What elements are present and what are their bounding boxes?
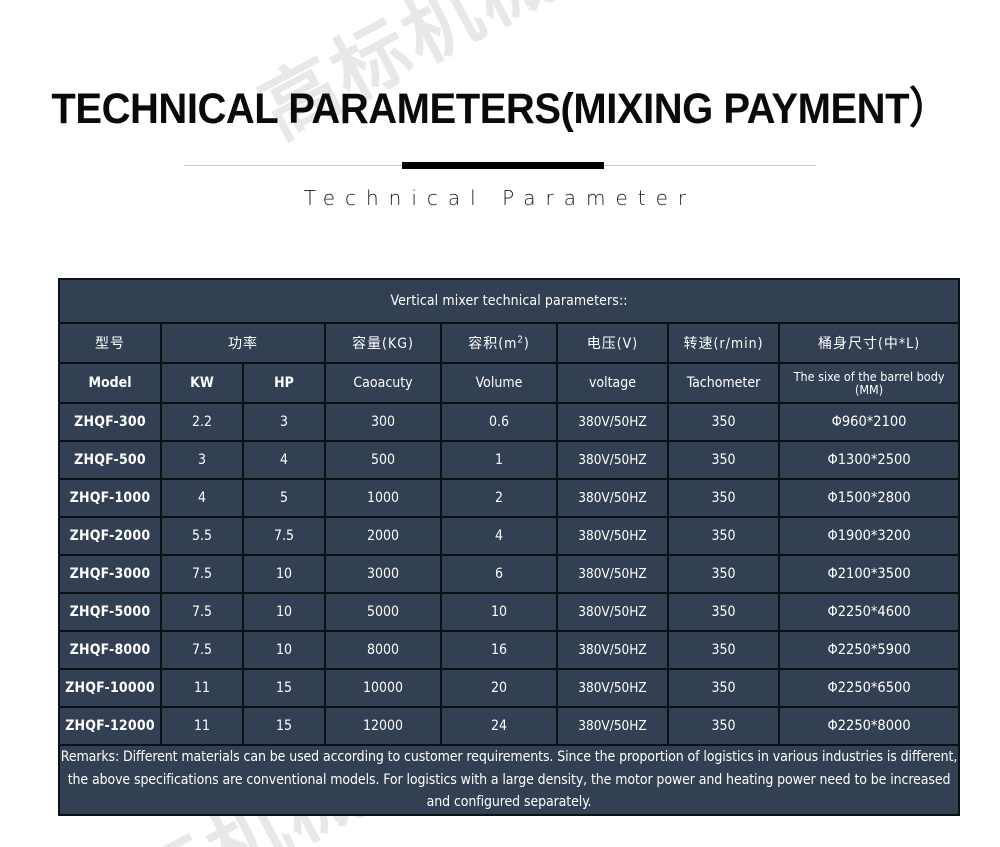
cell-volume: 16 <box>442 632 556 668</box>
cell-tachometer: 350 <box>669 404 778 440</box>
cell-kw: 4 <box>162 480 242 516</box>
col-header-power-cn: 功率 <box>162 324 324 362</box>
cell-volume: 20 <box>442 670 556 706</box>
cell-tachometer: 350 <box>669 708 778 744</box>
col-header-barrel-cn: 桶身尺寸(中*L) <box>780 324 958 362</box>
divider-accent-bar <box>402 162 604 169</box>
col-header-voltage-en: voltage <box>558 364 667 402</box>
cell-capacity: 300 <box>326 404 440 440</box>
table-banner: Vertical mixer technical parameters:: <box>60 280 958 322</box>
table-remarks: Remarks: Different materials can be used… <box>60 746 958 814</box>
cell-model: ZHQF-12000 <box>60 708 160 744</box>
cell-barrel: Φ2250*4600 <box>780 594 958 630</box>
page-subtitle: Technical Parameter <box>0 186 1000 210</box>
cell-hp: 3 <box>244 404 324 440</box>
table-header-row-cn: 型号 功率 容量(KG) 容积(m2) 电压(V) 转速(r/min) 桶身尺寸… <box>60 324 958 362</box>
cell-volume: 1 <box>442 442 556 478</box>
cell-model: ZHQF-1000 <box>60 480 160 516</box>
cell-hp: 4 <box>244 442 324 478</box>
cell-barrel: Φ2250*6500 <box>780 670 958 706</box>
cell-kw: 11 <box>162 708 242 744</box>
cell-barrel: Φ1500*2800 <box>780 480 958 516</box>
cell-model: ZHQF-10000 <box>60 670 160 706</box>
col-header-capacity-cn: 容量(KG) <box>326 324 440 362</box>
cell-voltage: 380V/50HZ <box>558 556 667 592</box>
cell-kw: 2.2 <box>162 404 242 440</box>
cell-hp: 10 <box>244 632 324 668</box>
cell-model: ZHQF-3000 <box>60 556 160 592</box>
col-header-volume-en: Volume <box>442 364 556 402</box>
cell-kw: 3 <box>162 442 242 478</box>
barrel-label-line2: (MM) <box>855 382 883 397</box>
table-row: ZHQF-1000 4 5 1000 2 380V/50HZ 350 Φ1500… <box>60 480 958 516</box>
cell-capacity: 2000 <box>326 518 440 554</box>
cell-voltage: 380V/50HZ <box>558 632 667 668</box>
cell-capacity: 500 <box>326 442 440 478</box>
col-header-barrel-en: The sixe of the barrel body(MM) <box>780 364 958 402</box>
table-row: ZHQF-500 3 4 500 1 380V/50HZ 350 Φ1300*2… <box>60 442 958 478</box>
cell-voltage: 380V/50HZ <box>558 708 667 744</box>
cell-capacity: 3000 <box>326 556 440 592</box>
cell-tachometer: 350 <box>669 594 778 630</box>
table-row: ZHQF-300 2.2 3 300 0.6 380V/50HZ 350 Φ96… <box>60 404 958 440</box>
table-row: ZHQF-10000 11 15 10000 20 380V/50HZ 350 … <box>60 670 958 706</box>
cell-volume: 6 <box>442 556 556 592</box>
volume-label-tail: ) <box>524 336 530 352</box>
table-header-row-en: Model KW HP Caoacuty Volume voltage Tach… <box>60 364 958 402</box>
col-header-hp-en: HP <box>244 364 324 402</box>
cell-voltage: 380V/50HZ <box>558 404 667 440</box>
table-banner-row: Vertical mixer technical parameters:: <box>60 280 958 322</box>
col-header-tachometer-en: Tachometer <box>669 364 778 402</box>
cell-hp: 10 <box>244 594 324 630</box>
cell-hp: 15 <box>244 708 324 744</box>
cell-model: ZHQF-300 <box>60 404 160 440</box>
table-row: ZHQF-2000 5.5 7.5 2000 4 380V/50HZ 350 Φ… <box>60 518 958 554</box>
page-title: TECHNICAL PARAMETERS(MIXING PAYMENT） <box>35 88 965 131</box>
cell-model: ZHQF-8000 <box>60 632 160 668</box>
cell-capacity: 12000 <box>326 708 440 744</box>
cell-kw: 7.5 <box>162 632 242 668</box>
spec-table-container: Vertical mixer technical parameters:: 型号… <box>58 278 942 816</box>
col-header-tachometer-cn: 转速(r/min) <box>669 324 778 362</box>
title-block: TECHNICAL PARAMETERS(MIXING PAYMENT） Tec… <box>0 0 1000 210</box>
cell-volume: 2 <box>442 480 556 516</box>
cell-voltage: 380V/50HZ <box>558 442 667 478</box>
col-header-voltage-cn: 电压(V) <box>558 324 667 362</box>
title-divider <box>184 161 816 170</box>
cell-voltage: 380V/50HZ <box>558 480 667 516</box>
cell-capacity: 8000 <box>326 632 440 668</box>
volume-label-head: 容积(m <box>468 336 517 352</box>
cell-capacity: 5000 <box>326 594 440 630</box>
cell-barrel: Φ2100*3500 <box>780 556 958 592</box>
col-header-volume-cn: 容积(m2) <box>442 324 556 362</box>
table-row: ZHQF-5000 7.5 10 5000 10 380V/50HZ 350 Φ… <box>60 594 958 630</box>
cell-barrel: Φ2250*5900 <box>780 632 958 668</box>
table-remarks-row: Remarks: Different materials can be used… <box>60 746 958 814</box>
cell-tachometer: 350 <box>669 480 778 516</box>
cell-barrel: Φ2250*8000 <box>780 708 958 744</box>
spec-table: Vertical mixer technical parameters:: 型号… <box>58 278 960 816</box>
table-row: ZHQF-8000 7.5 10 8000 16 380V/50HZ 350 Φ… <box>60 632 958 668</box>
cell-model: ZHQF-500 <box>60 442 160 478</box>
col-header-capacity-en: Caoacuty <box>326 364 440 402</box>
cell-kw: 7.5 <box>162 594 242 630</box>
cell-tachometer: 350 <box>669 556 778 592</box>
cell-volume: 0.6 <box>442 404 556 440</box>
cell-voltage: 380V/50HZ <box>558 670 667 706</box>
col-header-model-en: Model <box>60 364 160 402</box>
cell-model: ZHQF-2000 <box>60 518 160 554</box>
cell-voltage: 380V/50HZ <box>558 594 667 630</box>
cell-tachometer: 350 <box>669 632 778 668</box>
cell-tachometer: 350 <box>669 518 778 554</box>
cell-volume: 24 <box>442 708 556 744</box>
cell-volume: 4 <box>442 518 556 554</box>
cell-voltage: 380V/50HZ <box>558 518 667 554</box>
cell-model: ZHQF-5000 <box>60 594 160 630</box>
cell-kw: 7.5 <box>162 556 242 592</box>
col-header-model-cn: 型号 <box>60 324 160 362</box>
cell-capacity: 10000 <box>326 670 440 706</box>
cell-hp: 10 <box>244 556 324 592</box>
cell-barrel: Φ1900*3200 <box>780 518 958 554</box>
cell-hp: 7.5 <box>244 518 324 554</box>
cell-kw: 11 <box>162 670 242 706</box>
cell-capacity: 1000 <box>326 480 440 516</box>
cell-kw: 5.5 <box>162 518 242 554</box>
table-row: ZHQF-12000 11 15 12000 24 380V/50HZ 350 … <box>60 708 958 744</box>
col-header-kw-en: KW <box>162 364 242 402</box>
cell-volume: 10 <box>442 594 556 630</box>
cell-hp: 5 <box>244 480 324 516</box>
cell-hp: 15 <box>244 670 324 706</box>
cell-barrel: Φ960*2100 <box>780 404 958 440</box>
page-root: TECHNICAL PARAMETERS(MIXING PAYMENT） Tec… <box>0 0 1000 210</box>
cell-tachometer: 350 <box>669 670 778 706</box>
cell-barrel: Φ1300*2500 <box>780 442 958 478</box>
cell-tachometer: 350 <box>669 442 778 478</box>
table-row: ZHQF-3000 7.5 10 3000 6 380V/50HZ 350 Φ2… <box>60 556 958 592</box>
